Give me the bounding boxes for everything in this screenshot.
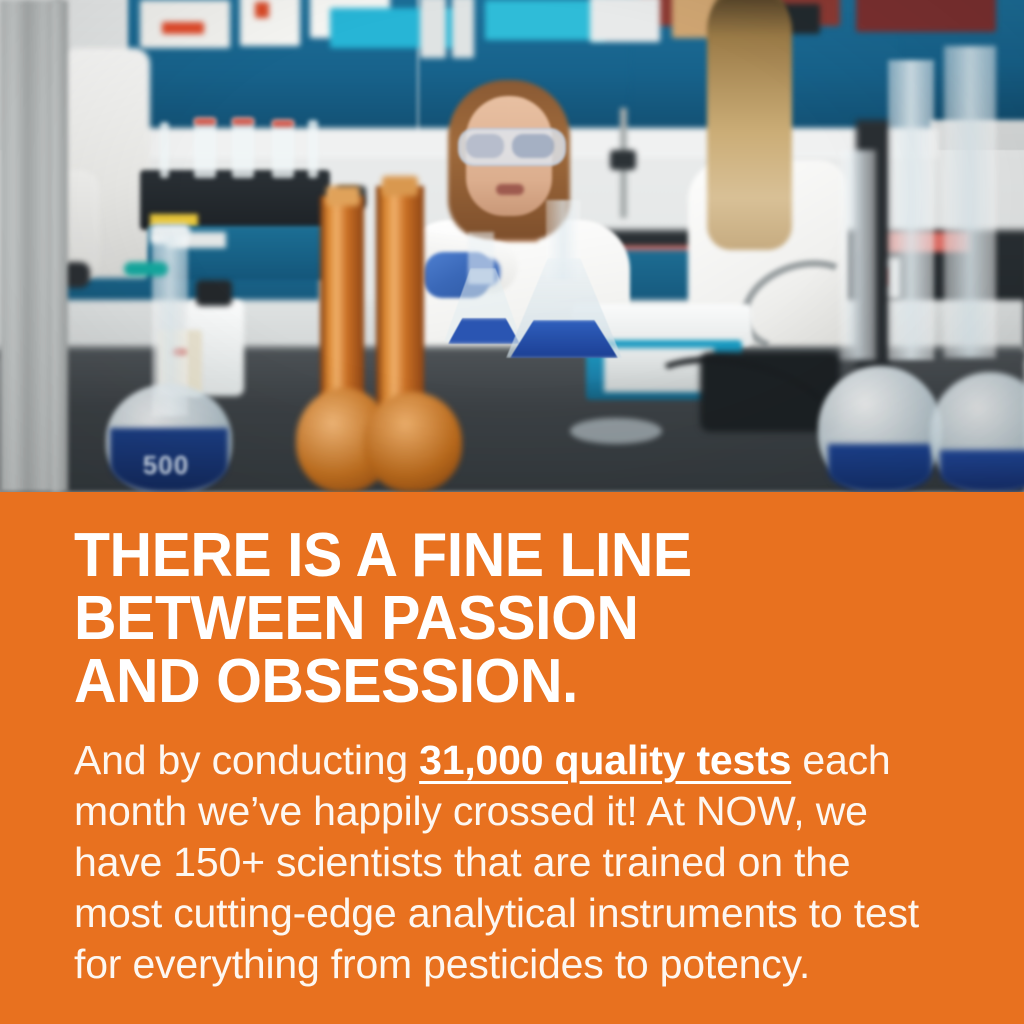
- cabinet-box-1-label: [162, 22, 204, 34]
- cabinet-column-2: [452, 0, 474, 58]
- cabinet-column-1: [420, 0, 446, 58]
- amber-flask-stopper-2: [382, 176, 418, 196]
- cabinet-box-4: [590, 0, 660, 42]
- scientist-center-mouth: [496, 184, 524, 195]
- wash-bottle-cap: [196, 280, 232, 306]
- cabinet-contents-red-far: [856, 0, 996, 32]
- amber-flask-bulb-2: [364, 392, 462, 492]
- test-tube-cap-3: [232, 118, 254, 125]
- safety-goggles-lens-left: [466, 134, 504, 158]
- cabinet-box-2: [240, 0, 300, 46]
- test-tube-cap-2: [194, 118, 216, 125]
- volumetric-flask-volume-label: 500: [118, 450, 214, 478]
- laboratory-photo: 500: [0, 0, 1024, 492]
- left-pillar-edge: [52, 0, 68, 492]
- safety-goggles-lens-right: [512, 134, 554, 158]
- retort-stand-clamp-2: [610, 150, 636, 170]
- amber-flask-stopper-1: [326, 186, 360, 206]
- petri-dish: [570, 418, 662, 444]
- page-title: THERE IS A FINE LINE BETWEEN PASSION AND…: [74, 524, 910, 713]
- test-tube-2: [194, 118, 216, 178]
- test-tube-cap-4: [272, 120, 294, 127]
- glass-column-1: [888, 60, 934, 360]
- cabinet-bottle-teal-2: [485, 0, 605, 40]
- quality-tests-highlight: 31,000 quality tests: [419, 737, 791, 783]
- teal-tape-marker-right: [124, 262, 168, 276]
- test-tube-5: [308, 120, 318, 178]
- body-paragraph: And by conducting 31,000 quality tests e…: [74, 735, 936, 990]
- test-tube-3: [232, 118, 254, 178]
- glass-column-2: [944, 46, 996, 358]
- cabinet-box-2-label: [255, 2, 269, 18]
- glass-flask-liquid-right-1: [828, 444, 932, 492]
- test-tube-4: [272, 120, 294, 178]
- glass-flask-liquid-right-2: [940, 450, 1024, 492]
- glass-column-3: [840, 150, 876, 360]
- body-text-before: And by conducting: [74, 737, 419, 783]
- scientist-blonde-hair: [707, 0, 792, 250]
- test-tube-1: [160, 122, 169, 178]
- social-media-card: 500 THERE IS A FINE LINE BETWEEN PASSION…: [0, 0, 1024, 1024]
